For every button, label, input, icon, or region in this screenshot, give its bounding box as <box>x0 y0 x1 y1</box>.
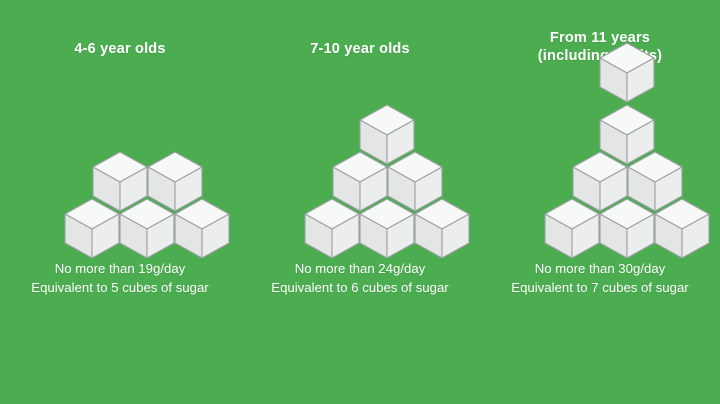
sugar-cube <box>599 42 655 104</box>
sugar-cube <box>544 198 600 260</box>
age-group-panel-4-6: 4-6 year olds No more than 19g/day Equiv… <box>0 0 240 404</box>
sugar-cube <box>119 198 175 260</box>
caption-line-cubes: Equivalent to 5 cubes of sugar <box>0 278 244 297</box>
caption-line-amount: No more than 24g/day <box>236 259 484 278</box>
sugar-cube <box>304 198 360 260</box>
group-caption: No more than 19g/day Equivalent to 5 cub… <box>0 259 244 297</box>
sugar-cube-stack <box>0 0 240 260</box>
sugar-cube <box>414 198 470 260</box>
sugar-cube <box>654 198 710 260</box>
sugar-cube-stack <box>240 0 480 260</box>
sugar-cube <box>599 198 655 260</box>
sugar-cube <box>359 198 415 260</box>
caption-line-cubes: Equivalent to 6 cubes of sugar <box>236 278 484 297</box>
sugar-intake-infographic: 4-6 year olds No more than 19g/day Equiv… <box>0 0 720 404</box>
caption-line-amount: No more than 19g/day <box>0 259 244 278</box>
group-caption: No more than 24g/day Equivalent to 6 cub… <box>236 259 484 297</box>
caption-line-amount: No more than 30g/day <box>476 259 720 278</box>
group-caption: No more than 30g/day Equivalent to 7 cub… <box>476 259 720 297</box>
sugar-cube <box>174 198 230 260</box>
caption-line-cubes: Equivalent to 7 cubes of sugar <box>476 278 720 297</box>
sugar-cube <box>64 198 120 260</box>
age-group-panel-11-plus: From 11 years (including adults) No more… <box>480 0 720 404</box>
sugar-cube-stack <box>480 0 720 260</box>
age-group-panel-7-10: 7-10 year olds No more than 24g/day Equi… <box>240 0 480 404</box>
